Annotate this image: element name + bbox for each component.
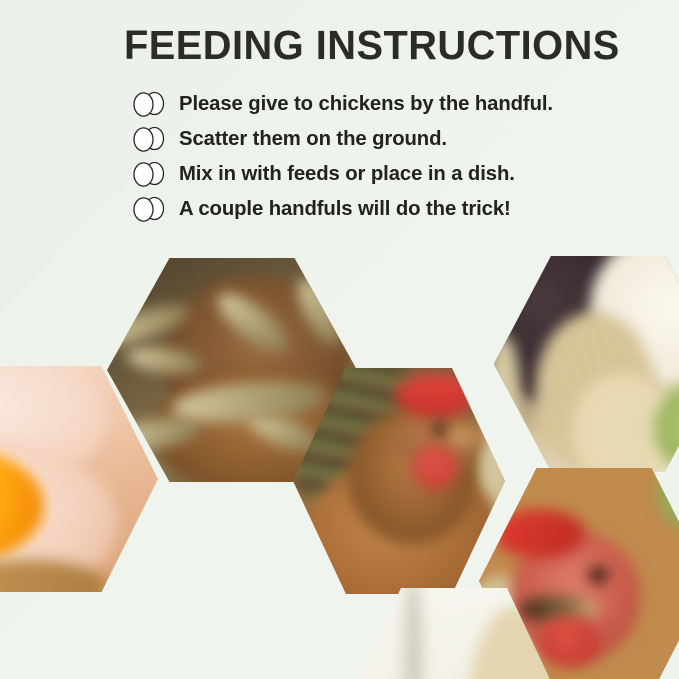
list-item: Please give to chickens by the handful. <box>130 86 670 121</box>
list-item-label: A couple handfuls will do the trick! <box>179 197 511 221</box>
list-item-label: Scatter them on the ground. <box>179 127 447 151</box>
list-item-label: Mix in with feeds or place in a dish. <box>179 162 515 186</box>
infographic-page: FEEDING INSTRUCTIONS Please give to chic… <box>0 0 679 679</box>
double-egg-icon <box>130 196 170 222</box>
instruction-list: Please give to chickens by the handful. … <box>130 86 670 226</box>
list-item-label: Please give to chickens by the handful. <box>179 92 553 116</box>
double-egg-icon <box>130 126 170 152</box>
chicken-in-straw-photo <box>494 256 679 472</box>
double-egg-icon <box>130 91 170 117</box>
double-egg-icon <box>130 161 170 187</box>
list-item: Mix in with feeds or place in a dish. <box>130 156 670 191</box>
page-title: FEEDING INSTRUCTIONS <box>124 24 648 67</box>
header: FEEDING INSTRUCTIONS <box>124 24 664 67</box>
list-item: A couple handfuls will do the trick! <box>130 191 670 226</box>
list-item: Scatter them on the ground. <box>130 121 670 156</box>
